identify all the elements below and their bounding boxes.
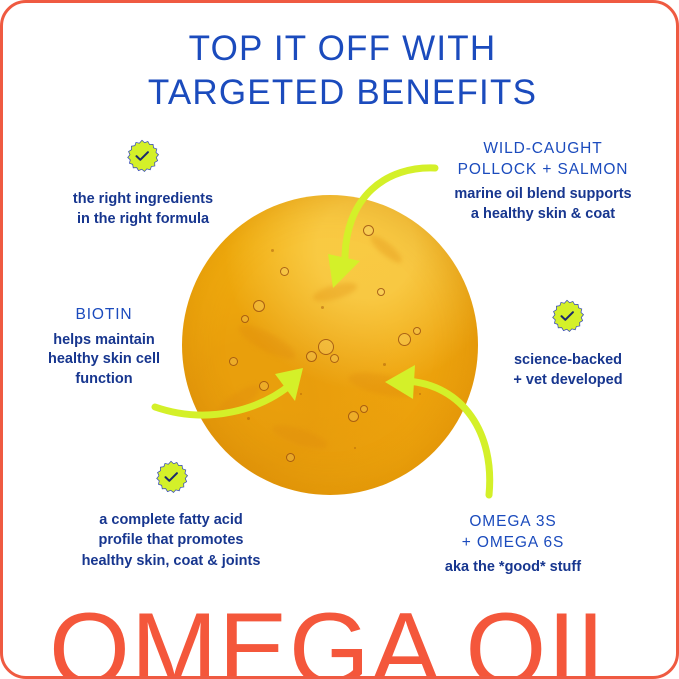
page-title-line-1: TOP IT OFF WITH xyxy=(3,27,679,71)
callout-fatty-acid: a complete fatty acid profile that promo… xyxy=(55,510,287,571)
callout-line: a complete fatty acid xyxy=(55,510,287,530)
callout-wild-caught: WILD-CAUGHT POLLOCK + SALMON marine oil … xyxy=(425,139,661,225)
page-title: TOP IT OFF WITH TARGETED BENEFITS xyxy=(3,27,679,115)
callout-line: the right ingredients xyxy=(41,189,245,209)
callout-science-backed: science-backed + vet developed xyxy=(486,350,650,391)
check-badge-icon-science xyxy=(550,299,584,333)
callout-line: function xyxy=(23,370,185,390)
omega-oil-image xyxy=(182,195,478,495)
callout-omega: OMEGA 3s + OMEGA 6s aka the *good* stuff xyxy=(415,512,611,578)
check-badge-icon-ingredients xyxy=(125,139,159,173)
callout-line: healthy skin, coat & joints xyxy=(55,551,287,571)
callout-heading-line: WILD-CAUGHT xyxy=(425,139,661,160)
product-benefits-infographic: TOP IT OFF WITH TARGETED BENEFITS xyxy=(0,0,679,679)
footer-product-name: OMEGA OIL xyxy=(3,598,679,679)
oil-droplet-texture xyxy=(182,195,478,495)
check-badge-icon-fatty-acid xyxy=(154,460,188,494)
callout-line: a healthy skin & coat xyxy=(425,205,661,225)
callout-line: science-backed xyxy=(486,350,650,370)
callout-line: + vet developed xyxy=(486,370,650,390)
callout-heading-line: POLLOCK + SALMON xyxy=(425,160,661,181)
callout-line: healthy skin cell xyxy=(23,350,185,370)
callout-heading-line: BIOTIN xyxy=(23,305,185,326)
callout-heading-line: OMEGA 3s xyxy=(415,512,611,533)
callout-heading-line: + OMEGA 6s xyxy=(415,533,611,554)
callout-line: marine oil blend supports xyxy=(425,185,661,205)
callout-line: aka the *good* stuff xyxy=(415,558,611,578)
callout-biotin: BIOTIN helps maintain healthy skin cell … xyxy=(23,305,185,390)
callout-line: helps maintain xyxy=(23,331,185,351)
callout-line: in the right formula xyxy=(41,209,245,229)
page-title-line-2: TARGETED BENEFITS xyxy=(3,71,679,115)
callout-right-ingredients: the right ingredients in the right formu… xyxy=(41,189,245,230)
callout-line: profile that promotes xyxy=(55,530,287,550)
